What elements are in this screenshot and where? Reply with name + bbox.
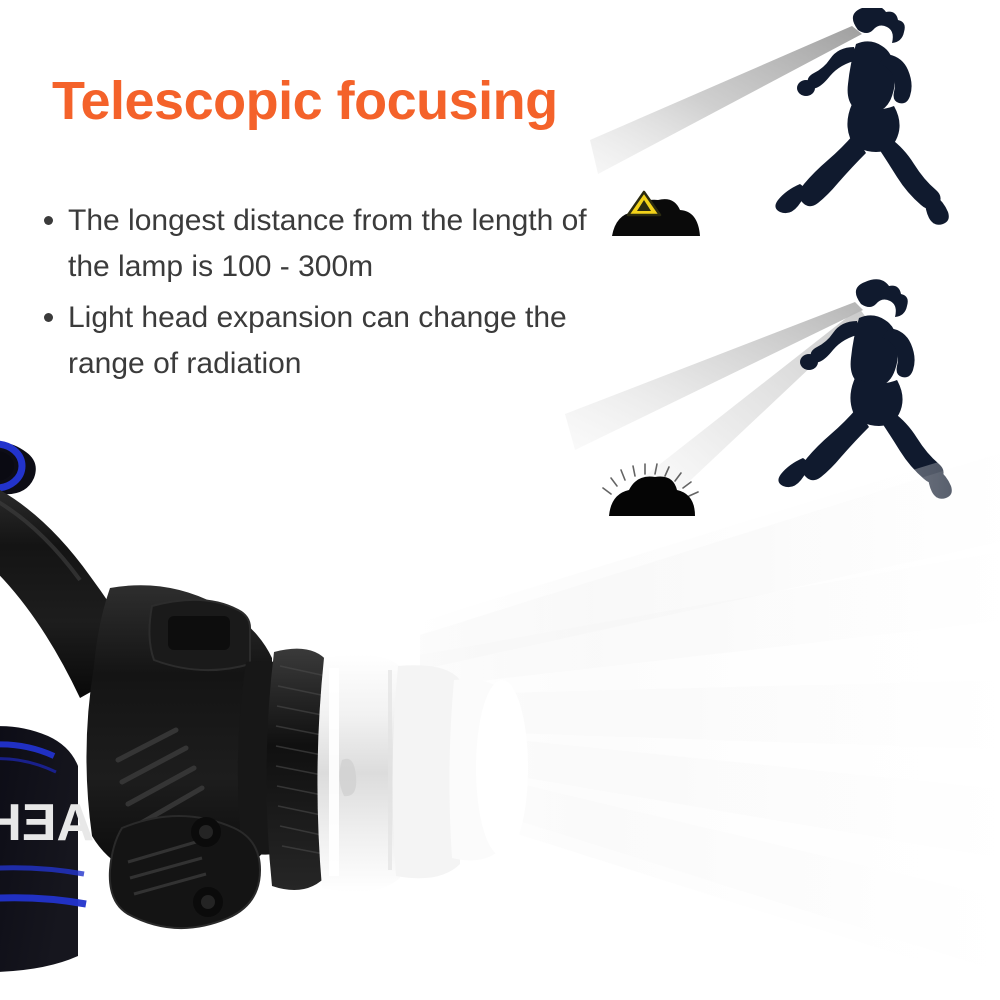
illustration-narrow-beam	[590, 8, 1000, 258]
page-title: Telescopic focusing	[52, 72, 558, 131]
bullet-text: Light head expansion can change the rang…	[68, 301, 567, 380]
bullet-dot-icon	[44, 216, 53, 225]
runner-silhouette	[775, 8, 948, 225]
list-item: The longest distance from the length of …	[38, 198, 618, 289]
rock-shape	[612, 199, 700, 236]
bullet-dot-icon	[44, 313, 53, 322]
light-beam-narrow	[590, 26, 862, 174]
strap-brand-text: AEH	[0, 794, 94, 852]
telescopic-lens-head	[317, 654, 528, 892]
feature-bullet-list: The longest distance from the length of …	[38, 198, 618, 392]
bullet-text: The longest distance from the length of …	[68, 204, 587, 283]
list-item: Light head expansion can change the rang…	[38, 295, 618, 386]
product-feature-banner: Telescopic focusing The longest distance…	[0, 0, 1000, 1000]
product-photo-headlamp: AEH	[0, 430, 1000, 1000]
pivot-hinge	[110, 816, 260, 928]
